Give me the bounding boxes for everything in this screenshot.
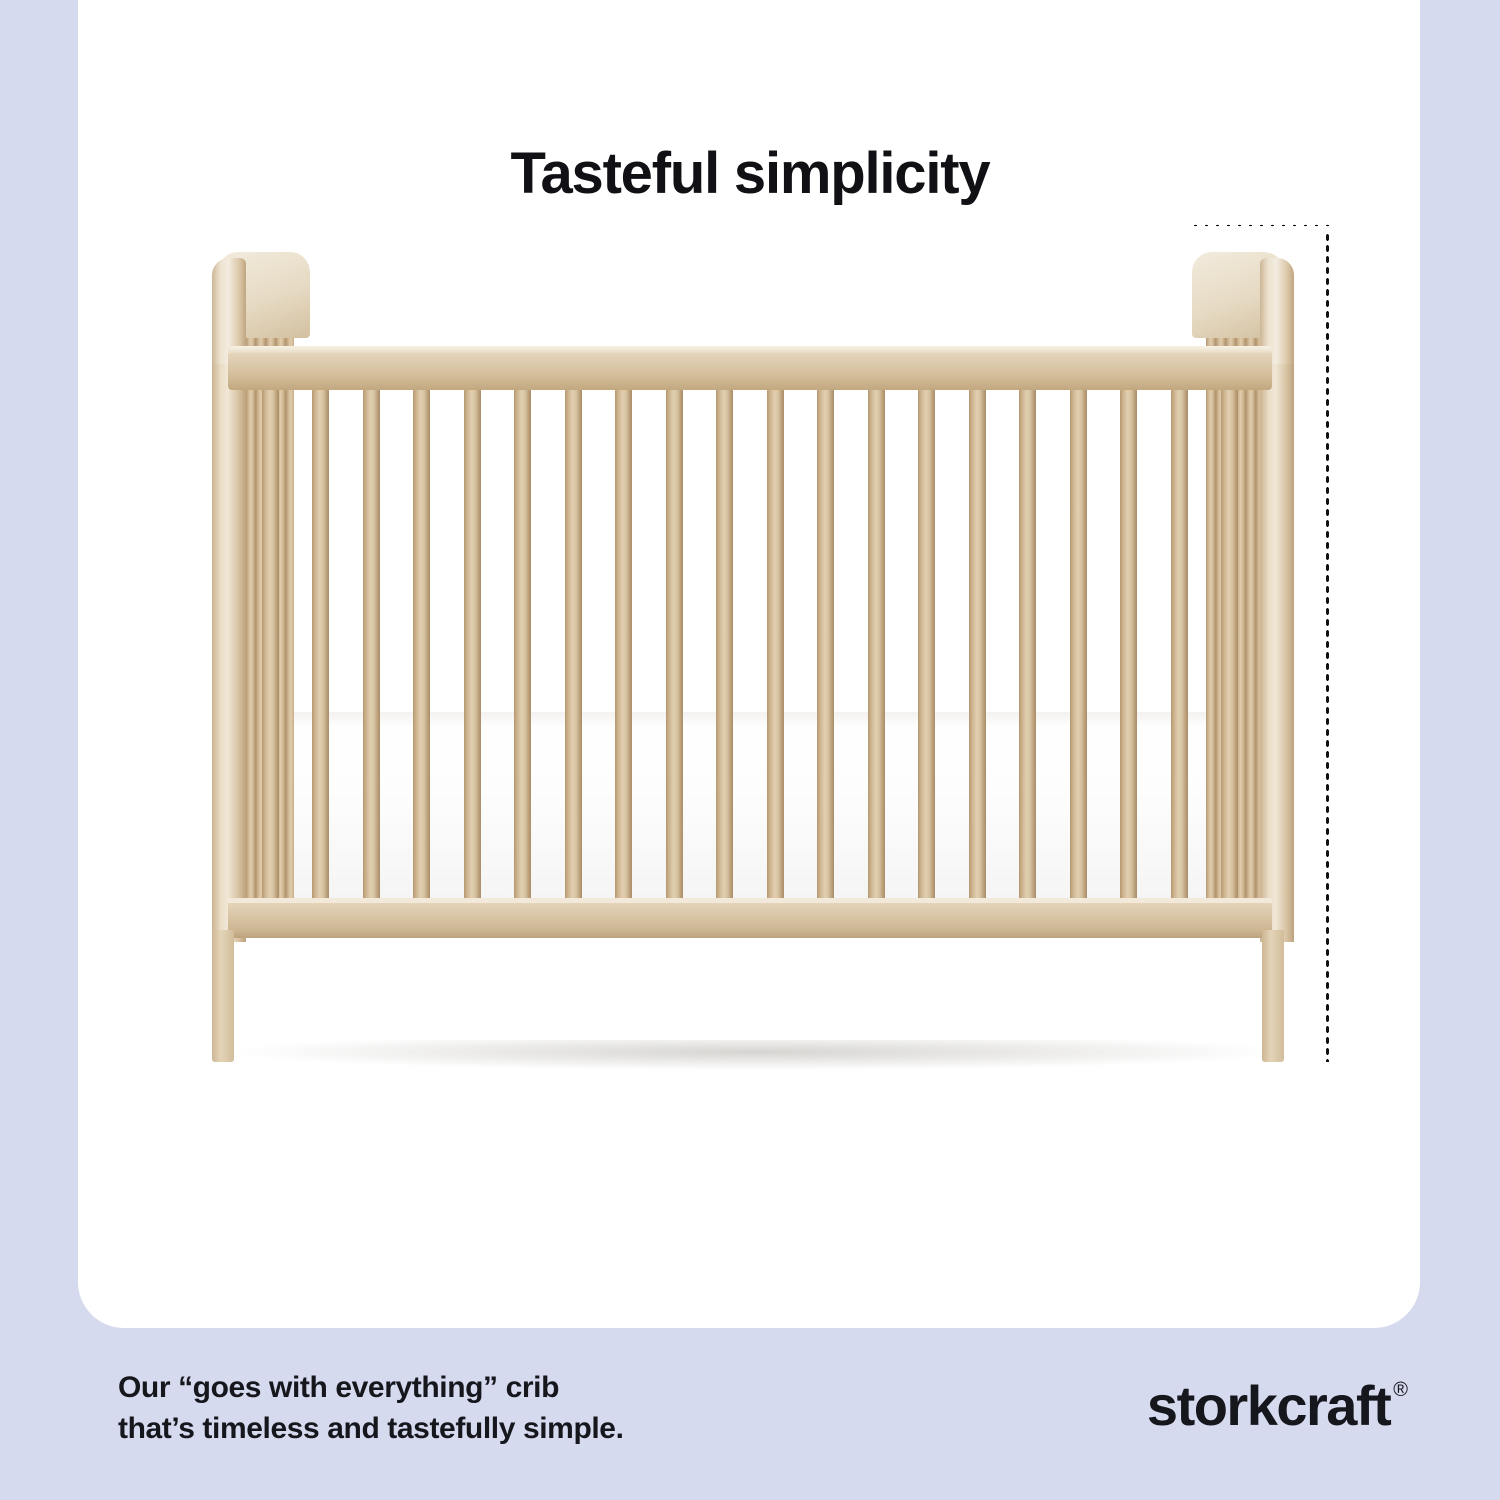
crib-slat <box>1171 388 1188 902</box>
crib-slat <box>969 388 986 902</box>
crib-slat <box>716 388 733 902</box>
crib-slat <box>615 388 632 902</box>
crib-floor-shadow <box>236 1040 1276 1070</box>
crib-slat <box>1070 388 1087 902</box>
crib-leg-right <box>1262 930 1284 1062</box>
crib-slat <box>514 388 531 902</box>
crib-slat <box>464 388 481 902</box>
crib-slat <box>666 388 683 902</box>
poster-canvas: Tasteful simplicity <box>0 0 1500 1500</box>
marketing-tagline: Our “goes with everything” crib that’s t… <box>118 1368 624 1450</box>
crib-slat <box>1120 388 1137 902</box>
crib-slat <box>363 388 380 902</box>
crib-top-rail <box>228 346 1272 390</box>
crib-icon <box>0 0 1500 1500</box>
crib-bottom-rail <box>228 898 1272 938</box>
crib-slats <box>228 388 1272 902</box>
crib-leg-left <box>212 930 234 1062</box>
crib-slat <box>868 388 885 902</box>
crib-slat <box>767 388 784 902</box>
crib-slat <box>1019 388 1036 902</box>
crib-slat <box>1221 388 1238 902</box>
crib-slat <box>413 388 430 902</box>
crib-slat <box>817 388 834 902</box>
crib-slat <box>262 388 279 902</box>
crib-slat <box>918 388 935 902</box>
brand-name: storkcraft <box>1147 1378 1390 1434</box>
registered-trademark-icon: ® <box>1393 1380 1408 1400</box>
brand-logo: storkcraft ® <box>1147 1378 1408 1434</box>
crib-slat <box>312 388 329 902</box>
crib-slat <box>565 388 582 902</box>
